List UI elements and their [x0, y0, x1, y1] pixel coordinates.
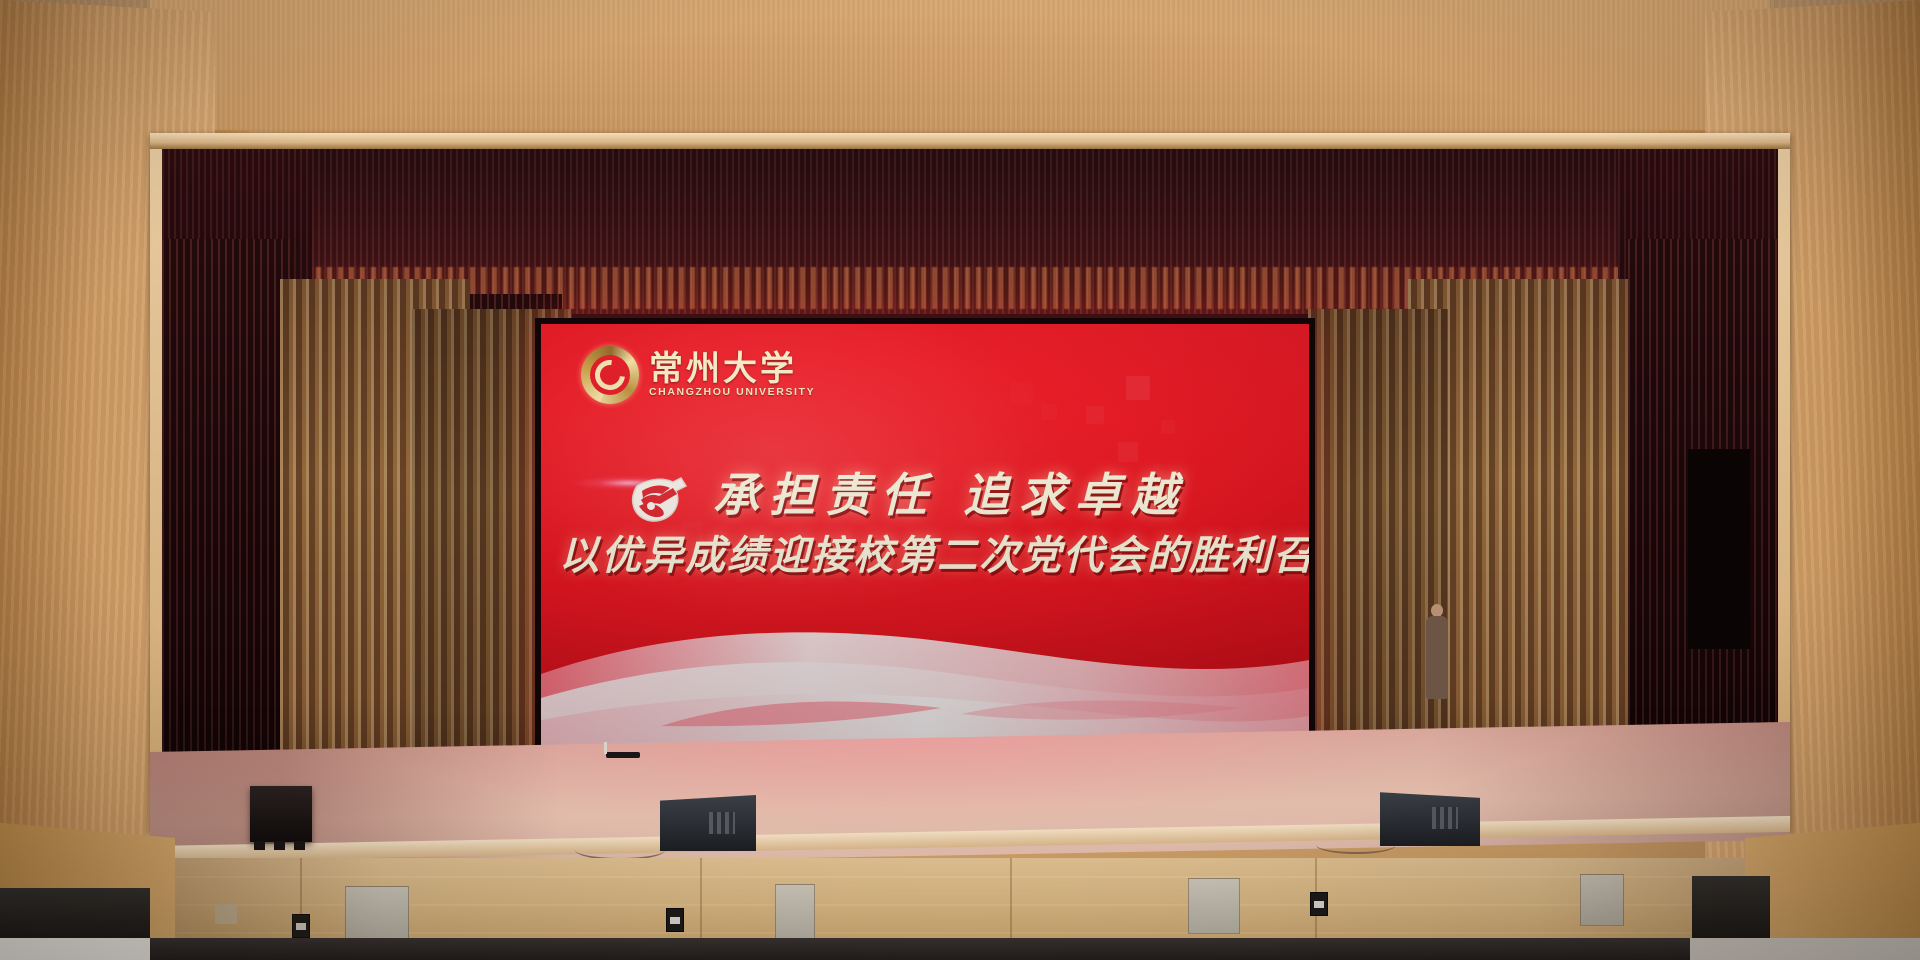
speaker-grille-icon	[1432, 807, 1458, 829]
stage-monitor-left	[660, 795, 756, 851]
ribbon-wave-graphic	[541, 588, 1309, 748]
house-floor-left	[0, 938, 150, 960]
apron-vent-panel	[345, 886, 409, 940]
mic-stand-post	[604, 742, 607, 754]
side-fill-speaker	[250, 786, 312, 842]
backstage-door-slot	[1688, 449, 1750, 649]
mosaic-square-icon	[1041, 404, 1057, 420]
apron-vent-panel	[1188, 878, 1240, 934]
mosaic-square-icon	[1086, 406, 1104, 424]
person-body	[1426, 616, 1448, 699]
speaker-feet	[254, 841, 308, 850]
university-name-en: CHANGZHOU UNIVERSITY	[649, 387, 815, 398]
university-name-cn: 常州大学	[649, 352, 815, 386]
house-floor-strip	[0, 938, 1920, 960]
mic-stand-base	[606, 752, 640, 758]
monitor-cable-right	[1316, 836, 1396, 854]
house-floor-right	[1690, 938, 1920, 960]
floor-mic-stand	[600, 742, 640, 758]
speaker-grille-icon	[709, 812, 735, 834]
apron-vent-panel	[1580, 874, 1624, 926]
mosaic-square-icon	[1011, 382, 1033, 404]
changzhou-university-seal-icon	[581, 346, 639, 404]
monitor-cable-left	[575, 840, 665, 860]
led-screen-bezel: 常州大学 CHANGZHOU UNIVERSITY	[535, 318, 1315, 758]
auditorium-stage-photo: 常州大学 CHANGZHOU UNIVERSITY	[0, 0, 1920, 960]
stage-power-socket	[1310, 892, 1328, 916]
cpc-hammer-sickle-icon	[627, 470, 699, 534]
proscenium-lintel	[150, 133, 1790, 149]
university-logo: 常州大学 CHANGZHOU UNIVERSITY	[581, 346, 815, 404]
stage-power-socket	[292, 914, 310, 938]
mosaic-square-icon	[1161, 420, 1175, 434]
apron-vent-panel	[215, 904, 237, 924]
stage-power-socket	[666, 908, 684, 932]
mosaic-square-icon	[1126, 376, 1150, 400]
stage-monitor-right	[1380, 790, 1480, 846]
university-logo-text: 常州大学 CHANGZHOU UNIVERSITY	[649, 352, 815, 398]
person-in-wing	[1426, 604, 1448, 699]
slogan-line-1: 承担责任 追求卓越	[713, 472, 1187, 518]
mosaic-square-icon	[1118, 442, 1138, 462]
led-screen: 常州大学 CHANGZHOU UNIVERSITY	[541, 324, 1309, 748]
apron-vent-panel	[775, 884, 815, 942]
slogan-line-2: 以优异成绩迎接校第二次党代会的胜利召开	[559, 536, 1309, 576]
